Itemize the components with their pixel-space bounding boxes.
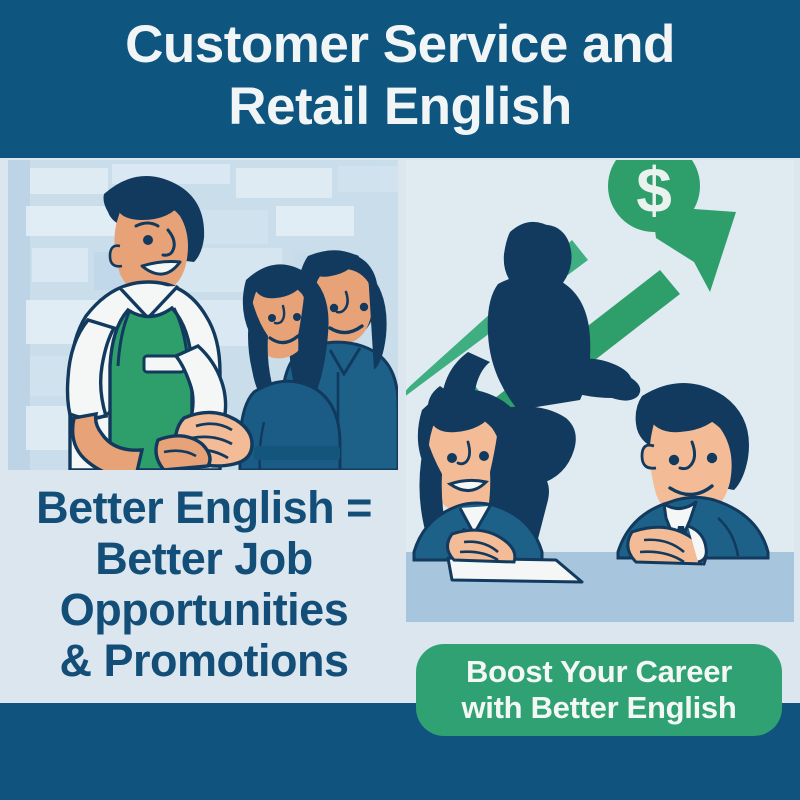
page-title: Customer Service and Retail English (0, 14, 800, 138)
cta-badge[interactable]: Boost Your Career with Better English (416, 644, 782, 736)
svg-text:$: $ (636, 160, 672, 226)
headline-text: Better English = Better Job Opportunitie… (8, 482, 400, 686)
cta-label: Boost Your Career with Better English (461, 654, 736, 726)
header-band: Customer Service and Retail English (0, 0, 800, 158)
right-illustration-panel: $ (406, 160, 794, 622)
poster-root: $ (0, 0, 800, 800)
left-illustration-panel (8, 160, 398, 470)
